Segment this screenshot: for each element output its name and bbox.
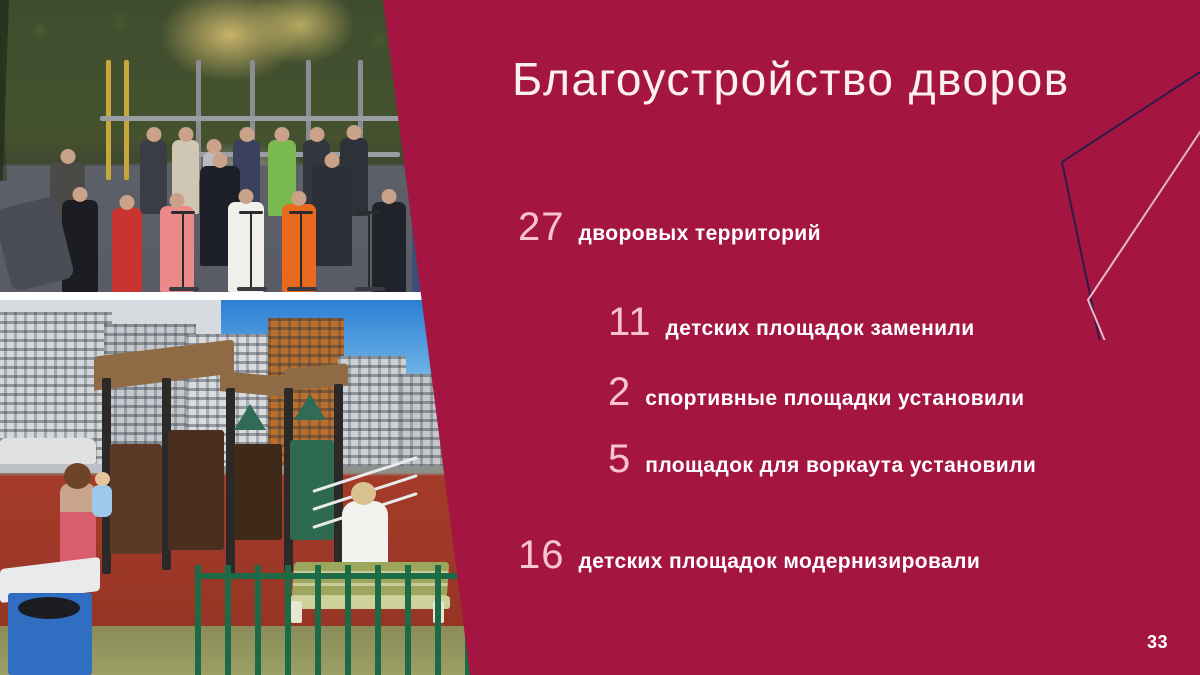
stat-label: дворовых территорий [579,222,821,246]
page-number: 33 [1147,632,1168,653]
photo-wooden-playground-courtyard [0,300,480,675]
stat-row: 11 детских площадок заменили [608,300,975,345]
stat-number: 27 [518,205,565,250]
stat-label: детских площадок модернизировали [579,550,981,574]
stat-number: 11 [608,300,652,345]
page-title: Благоустройство дворов [512,52,1070,106]
stat-row: 5 площадок для воркаута установили [608,437,1036,482]
presentation-slide: Благоустройство дворов 27 дворовых терри… [0,0,1200,675]
stat-row: 2 спортивные площадки установили [608,370,1024,415]
stat-label: площадок для воркаута установили [645,454,1036,478]
stat-label: детских площадок заменили [666,317,975,341]
stat-number: 5 [608,437,631,482]
stat-row: 16 детских площадок модернизировали [518,533,980,578]
stat-number: 16 [518,533,565,578]
stat-row: 27 дворовых территорий [518,205,821,250]
stat-number: 2 [608,370,631,415]
stat-label: спортивные площадки установили [645,387,1024,411]
